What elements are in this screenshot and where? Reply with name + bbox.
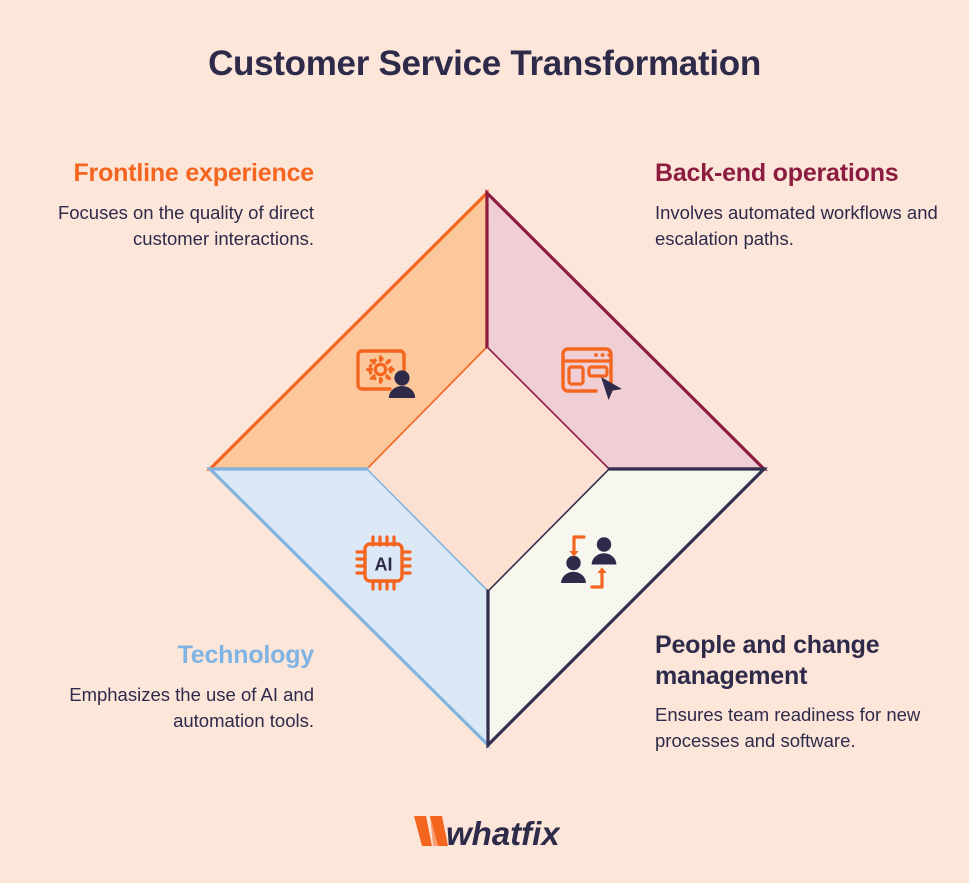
quadrant-body-people: Ensures team readiness for new processes…	[655, 702, 955, 755]
ai-chip-icon: AI	[352, 531, 418, 595]
whatfix-logo: whatfix	[0, 808, 969, 854]
quadrant-label-backend: Back-end operations Involves automated w…	[655, 158, 955, 252]
ai-chip-label: AI	[375, 555, 393, 575]
whatfix-logo-svg: whatfix	[410, 808, 560, 854]
quadrant-heading-backend: Back-end operations	[655, 158, 955, 189]
people-exchange-icon	[556, 531, 622, 595]
icon-people-change	[556, 531, 622, 600]
quadrant-body-frontline: Focuses on the quality of direct custome…	[24, 200, 314, 253]
icon-backend	[558, 341, 626, 410]
quadrant-body-backend: Involves automated workflows and escalat…	[655, 200, 955, 253]
gear-person-icon	[352, 341, 422, 405]
quadrant-body-technology: Emphasizes the use of AI and automation …	[24, 682, 314, 735]
quadrant-heading-frontline: Frontline experience	[24, 158, 314, 189]
infographic-canvas: Customer Service Transformation	[0, 0, 969, 883]
quadrant-heading-people: People and change management	[655, 630, 955, 691]
icon-technology: AI	[352, 531, 418, 600]
icon-frontline	[352, 341, 422, 410]
quadrant-heading-technology: Technology	[24, 640, 314, 671]
quadrant-label-frontline: Frontline experience Focuses on the qual…	[24, 158, 314, 252]
quadrant-label-people: People and change management Ensures tea…	[655, 630, 955, 755]
quadrant-label-technology: Technology Emphasizes the use of AI and …	[24, 640, 314, 734]
whatfix-wordmark: whatfix	[446, 815, 560, 852]
browser-cursor-icon	[558, 341, 626, 405]
